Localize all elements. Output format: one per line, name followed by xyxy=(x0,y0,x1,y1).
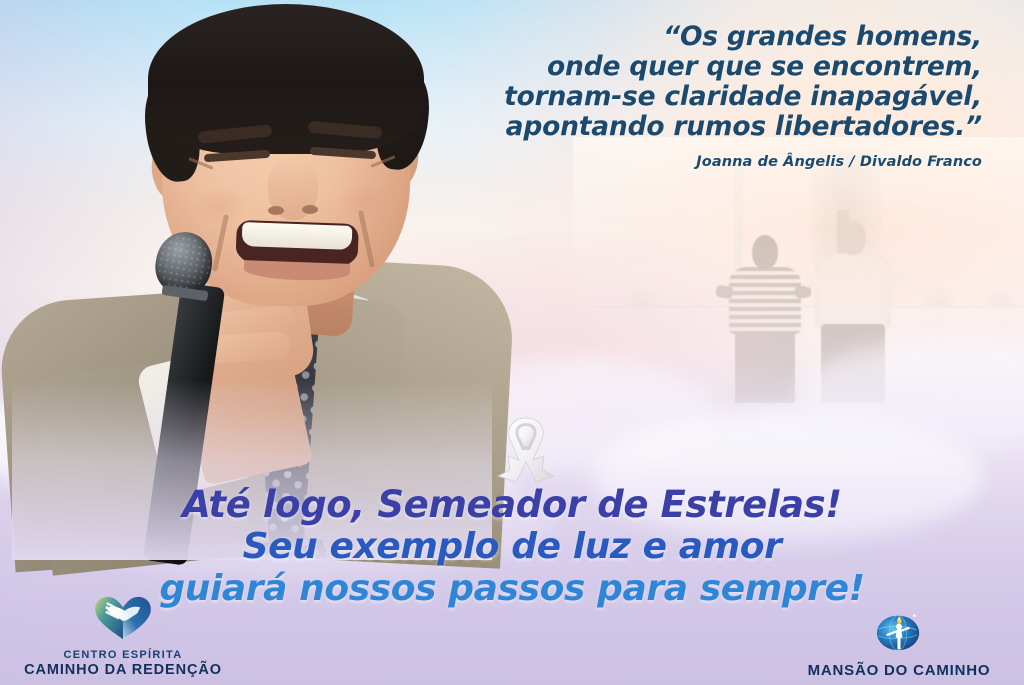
logo-right-line-1: MANSÃO DO CAMINHO xyxy=(784,662,1014,679)
quote-line-1: “Os grandes homens, xyxy=(422,22,982,52)
nostril-left xyxy=(268,206,284,215)
logo-centro-espirita[interactable]: CENTRO ESPÍRITA CAMINHO DA REDENÇÃO xyxy=(18,595,228,679)
quote-line-2: onde quer que se encontrem, xyxy=(422,52,982,82)
memorial-poster: “Os grandes homens, onde quer que se enc… xyxy=(0,0,1024,685)
farewell-line-2: Seu exemplo de luz e amor xyxy=(0,529,1024,565)
quote-attribution: Joanna de Ângelis / Divaldo Franco xyxy=(422,154,982,170)
hair xyxy=(148,4,424,154)
nostril-right xyxy=(302,205,318,214)
quote-line-4: apontando rumos libertadores.” xyxy=(422,112,982,142)
farewell-line-1: Até logo, Semeador de Estrelas! xyxy=(0,486,1024,523)
teeth xyxy=(242,222,353,250)
quote-line-3: tornam-se claridade inapagável, xyxy=(422,82,982,112)
logo-mansao-do-caminho[interactable]: MANSÃO DO CAMINHO xyxy=(784,606,1014,679)
globe-figure-flame-icon xyxy=(784,606,1014,659)
cheek-right xyxy=(338,182,394,222)
logo-left-line-2: CAMINHO DA REDENÇÃO xyxy=(18,662,228,679)
portrait-divaldo-franco xyxy=(12,0,492,560)
farewell-message: Até logo, Semeador de Estrelas! Seu exem… xyxy=(0,486,1024,607)
cheek-left xyxy=(192,186,248,226)
logo-left-line-1: CENTRO ESPÍRITA xyxy=(18,649,228,662)
heart-hands-icon xyxy=(18,595,228,646)
quote-block: “Os grandes homens, onde quer que se enc… xyxy=(422,22,982,170)
mourning-ribbon-icon xyxy=(488,412,564,486)
